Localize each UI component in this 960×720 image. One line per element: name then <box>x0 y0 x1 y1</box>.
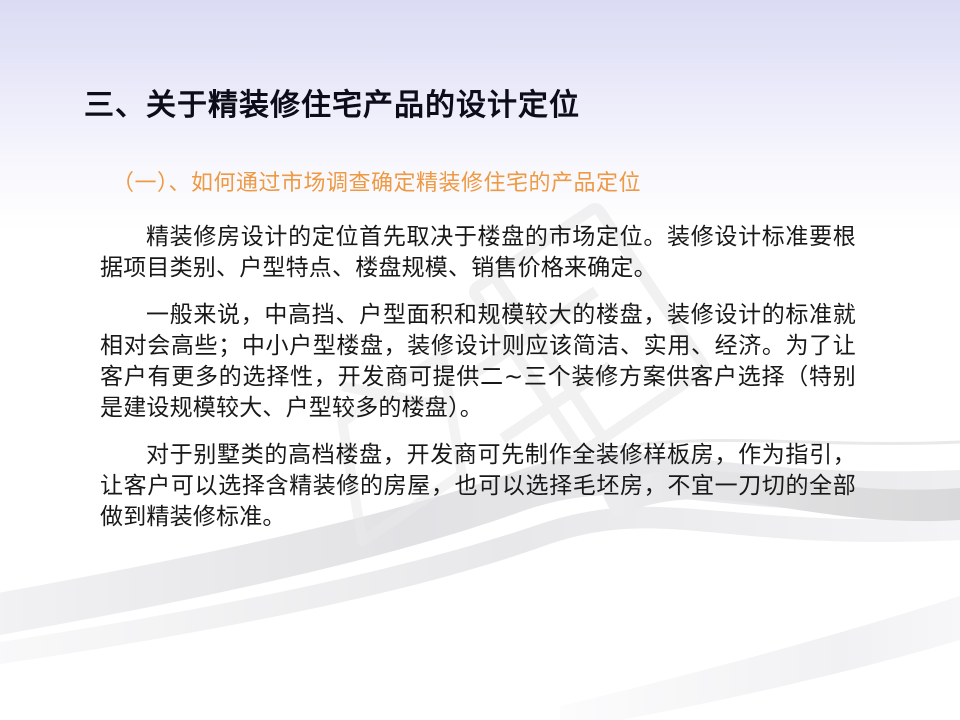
page-title: 三、关于精装修住宅产品的设计定位 <box>84 88 580 124</box>
presentation-slide: 三、关于精装修住宅产品的设计定位 （一）、如何通过市场调查确定精装修住宅的产品定… <box>0 0 960 720</box>
body-text-block: 精装修房设计的定位首先取决于楼盘的市场定位。装修设计标准要根据项目类别、户型特点… <box>100 222 856 533</box>
body-paragraph-3: 对于别墅类的高档楼盘，开发商可先制作全装修样板房，作为指引，让客户可以选择含精装… <box>100 440 856 533</box>
section-subtitle: （一）、如何通过市场调查确定精装修住宅的产品定位 <box>112 170 641 199</box>
slide-content: 三、关于精装修住宅产品的设计定位 （一）、如何通过市场调查确定精装修住宅的产品定… <box>0 0 960 720</box>
body-paragraph-2: 一般来说，中高挡、户型面积和规模较大的楼盘，装修设计的标准就相对会高些；中小户型… <box>100 300 856 424</box>
body-paragraph-1: 精装修房设计的定位首先取决于楼盘的市场定位。装修设计标准要根据项目类别、户型特点… <box>100 222 856 284</box>
